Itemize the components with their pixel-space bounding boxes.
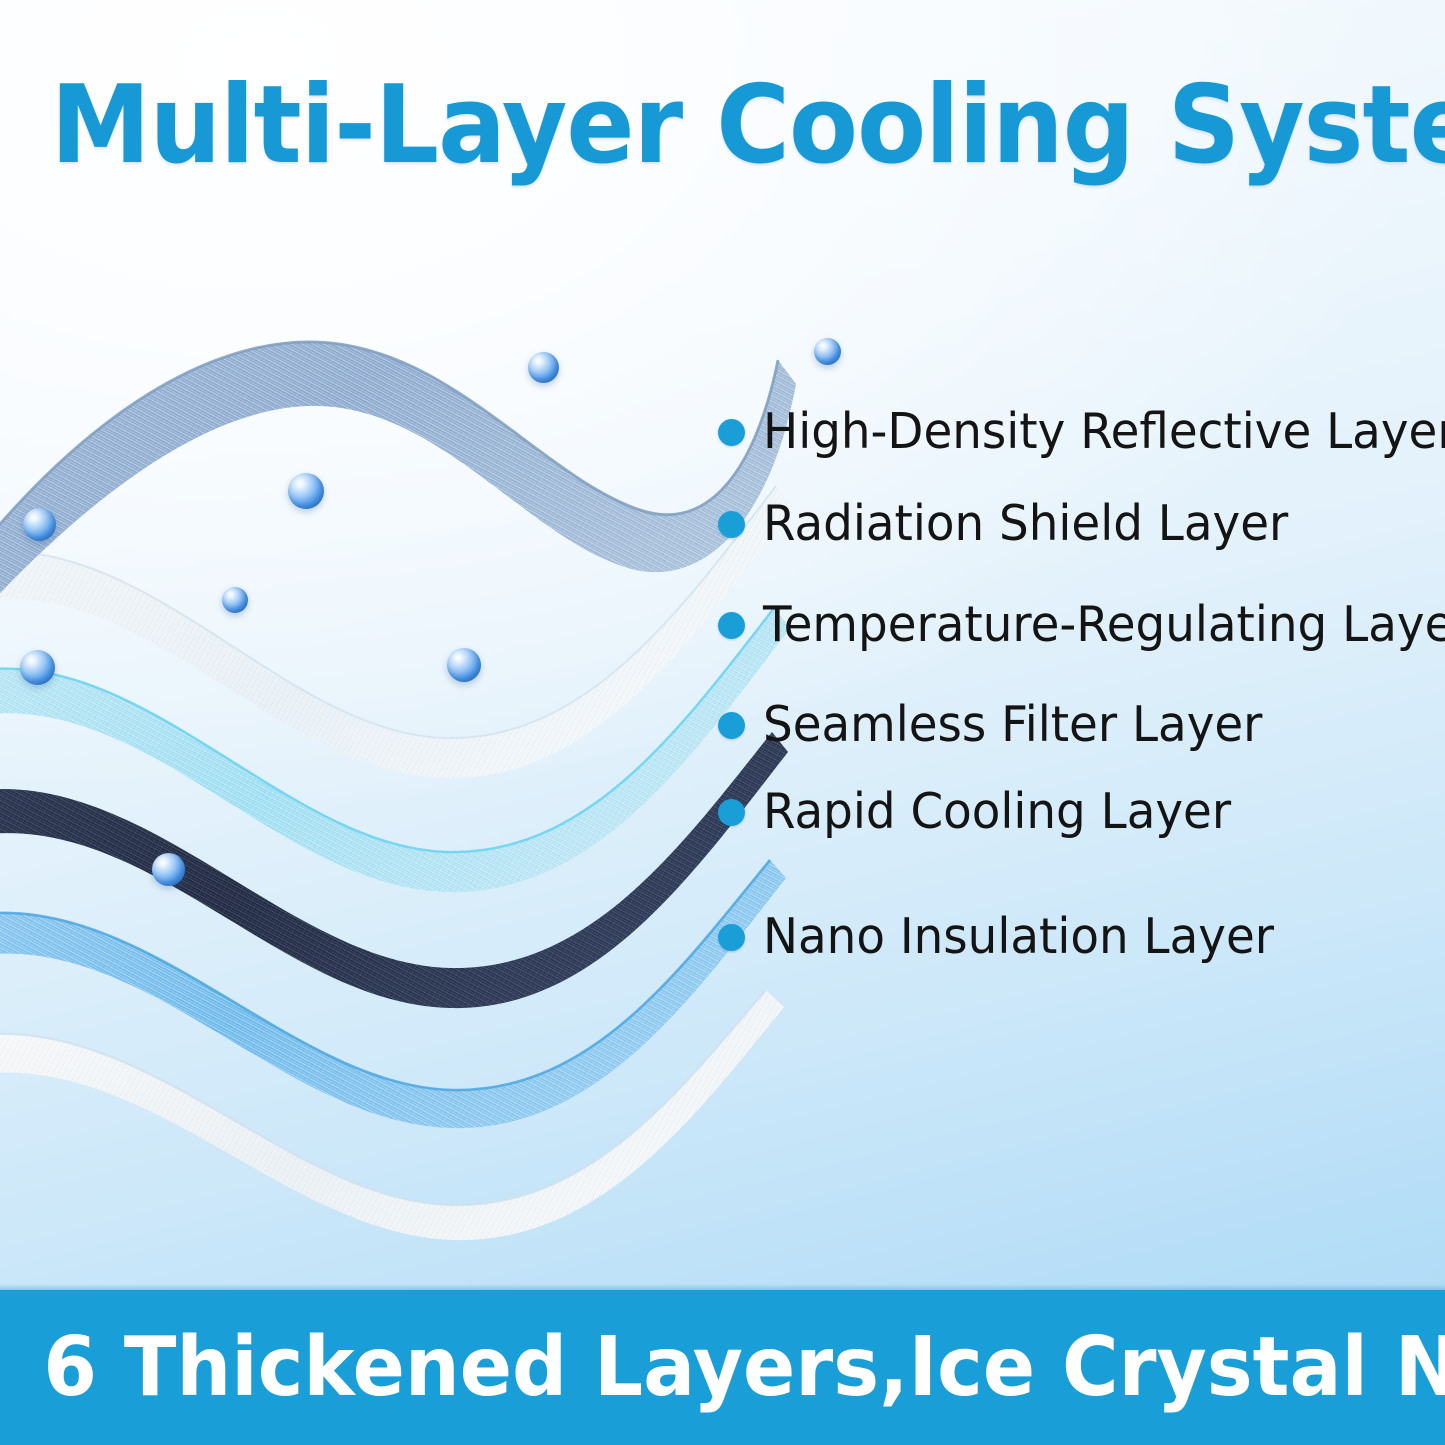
- legend-item-label: Seamless Filter Layer: [763, 699, 1262, 751]
- legend-item-label: Rapid Cooling Layer: [763, 786, 1231, 838]
- banner-headline: 6 Thickened Layers,Ice Crystal Nanoh: [43, 1324, 1401, 1412]
- cooling-sphere: [152, 853, 185, 886]
- legend-item-label: Temperature-Regulating Layer: [763, 599, 1445, 651]
- bottom-banner: 6 Thickened Layers,Ice Crystal Nanoh: [0, 1290, 1445, 1445]
- cooling-sphere: [222, 587, 248, 613]
- legend-item-temperature-regulating-layer[interactable]: Temperature-Regulating Layer: [718, 594, 1445, 656]
- legend-item-label: Nano Insulation Layer: [763, 911, 1274, 963]
- legend-item-high-density-reflective-layer[interactable]: High-Density Reflective Layer: [718, 401, 1445, 463]
- legend-item-label: High-Density Reflective Layer: [763, 406, 1445, 458]
- legend-item-nano-insulation-layer[interactable]: Nano Insulation Layer: [718, 906, 1298, 968]
- bullet-dot-icon: [718, 799, 745, 826]
- legend-item-seamless-filter-layer[interactable]: Seamless Filter Layer: [718, 694, 1286, 756]
- cooling-sphere: [23, 508, 56, 541]
- cooling-sphere: [447, 648, 481, 682]
- bullet-dot-icon: [718, 511, 745, 538]
- fabric-layers-illustration: [0, 300, 820, 1250]
- bullet-dot-icon: [718, 419, 745, 446]
- cooling-sphere: [20, 650, 55, 685]
- bullet-dot-icon: [718, 924, 745, 951]
- legend-item-rapid-cooling-layer[interactable]: Rapid Cooling Layer: [718, 781, 1253, 843]
- legend-item-radiation-shield-layer[interactable]: Radiation Shield Layer: [718, 493, 1313, 555]
- cooling-sphere: [288, 473, 324, 509]
- bullet-dot-icon: [718, 612, 745, 639]
- cooling-sphere: [528, 352, 559, 383]
- product-infographic: Multi-Layer Cooling System: [0, 0, 1445, 1445]
- layer-legend-list: High-Density Reflective Layer Radiation …: [718, 0, 1445, 1445]
- bullet-dot-icon: [718, 712, 745, 739]
- legend-item-label: Radiation Shield Layer: [763, 498, 1288, 550]
